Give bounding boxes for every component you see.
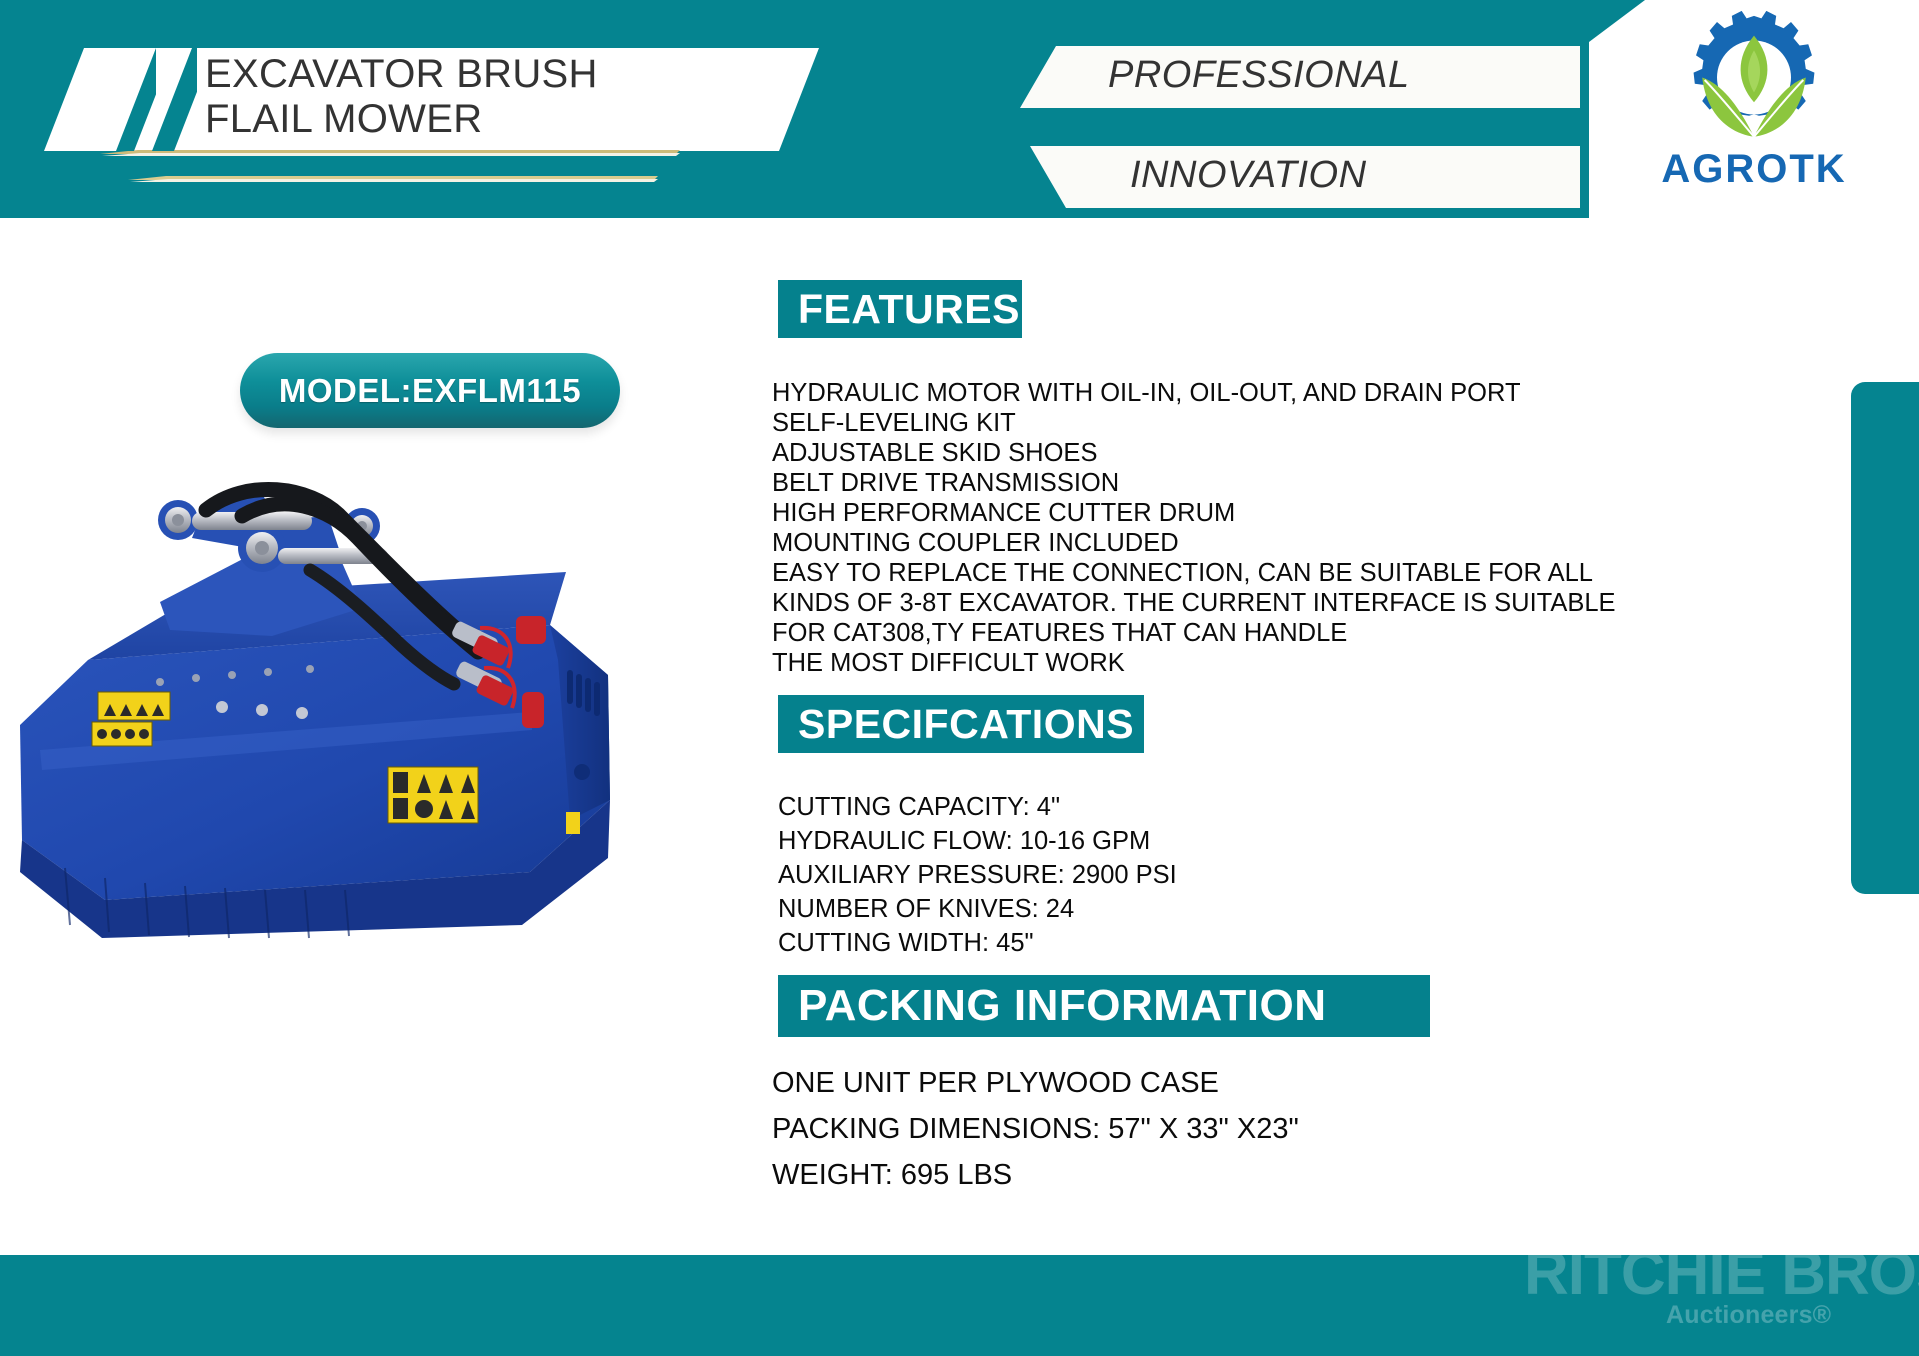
- right-edge-tab[interactable]: [1851, 382, 1919, 894]
- packing-body: ONE UNIT PER PLYWOOD CASE PACKING DIMENS…: [772, 1060, 1672, 1198]
- brand-wordmark: AGROTK: [1661, 148, 1846, 190]
- accent-stroke-white-1: [102, 153, 680, 156]
- section-heading-features: FEATURES: [778, 280, 1022, 338]
- tagline-professional: PROFESSIONAL: [1108, 54, 1410, 97]
- packing-heading-label: PACKING INFORMATION: [798, 981, 1327, 1031]
- product-photo: [10, 420, 630, 940]
- features-heading-label: FEATURES: [798, 286, 1020, 333]
- model-badge-label: MODEL:EXFLM115: [279, 372, 581, 410]
- watermark-auctioneers: Auctioneers®: [1666, 1301, 1831, 1330]
- specifications-body: CUTTING CAPACITY: 4" HYDRAULIC FLOW: 10-…: [778, 790, 1498, 960]
- features-body: HYDRAULIC MOTOR WITH OIL-IN, OIL-OUT, AN…: [772, 378, 1822, 678]
- product-spec-sheet: EXCAVATOR BRUSH FLAIL MOWER PROFESSIONAL…: [0, 0, 1919, 1356]
- page-header: EXCAVATOR BRUSH FLAIL MOWER PROFESSIONAL…: [0, 0, 1919, 218]
- specifications-heading-label: SPECIFCATIONS: [798, 701, 1134, 748]
- gear-leaf-logo-icon: [1680, 6, 1828, 154]
- watermark-ritchie-bros: RITCHIE BROS.: [1524, 1255, 1919, 1305]
- accent-stroke-white-2: [130, 179, 658, 182]
- page-footer: RITCHIE BROS. Auctioneers®: [0, 1255, 1919, 1356]
- brand-logo: AGROTK: [1589, 0, 1919, 218]
- page-title: EXCAVATOR BRUSH FLAIL MOWER: [205, 52, 765, 142]
- section-heading-packing: PACKING INFORMATION: [778, 975, 1430, 1037]
- section-heading-specifications: SPECIFCATIONS: [778, 695, 1144, 753]
- tagline-innovation: INNOVATION: [1130, 154, 1367, 197]
- model-badge: MODEL:EXFLM115: [240, 353, 620, 428]
